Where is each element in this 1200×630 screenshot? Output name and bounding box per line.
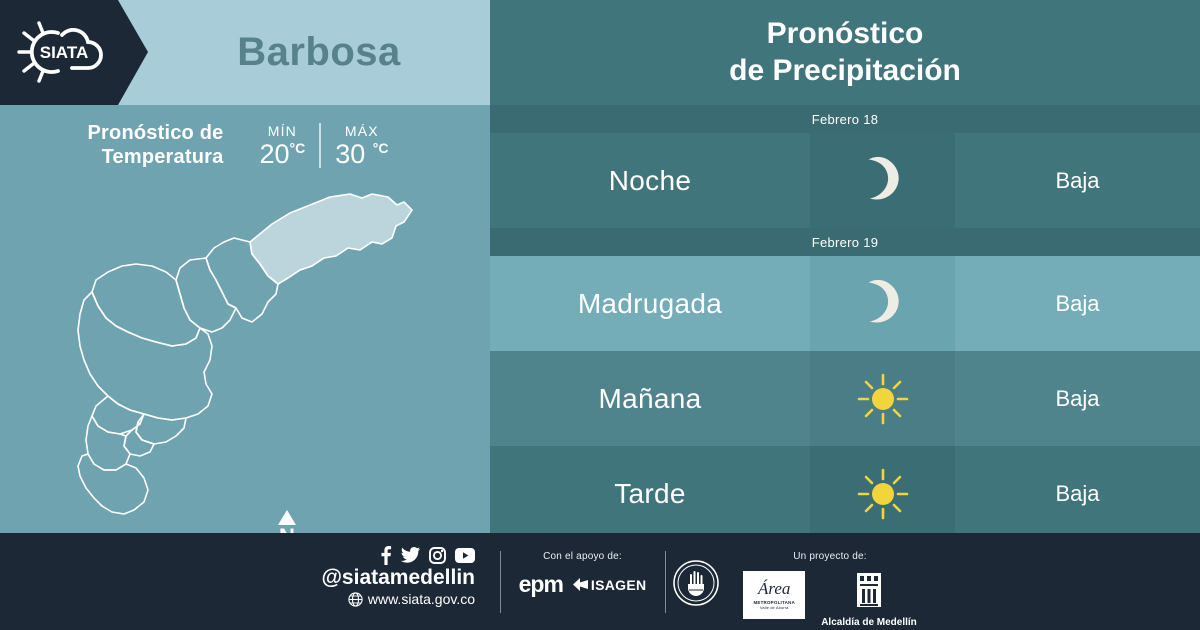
sun-icon <box>810 446 955 541</box>
support-caption: Con el apoyo de: <box>505 551 660 562</box>
compass-arrow-icon <box>278 510 296 525</box>
temperature-max-unit: °C <box>373 140 389 156</box>
temperature-max-value: 30 °C <box>335 141 388 168</box>
temperature-max-label: MÁX <box>345 123 379 139</box>
siata-logo-badge: SIATA <box>0 0 148 105</box>
left-panel: SIATA Barbosa Pronóstico de Temperatura … <box>0 0 490 533</box>
forecast-row-manana[interactable]: Mañana <box>490 351 1200 446</box>
temperature-min: MÍN 20°C <box>245 123 321 168</box>
infographic-root: SIATA Barbosa Pronóstico de Temperatura … <box>0 0 1200 630</box>
project-block: Un proyecto de: Área METROPOLITANA Valle… <box>725 551 935 628</box>
map-region-barbosa <box>250 194 412 284</box>
map-region-copacabana <box>176 258 236 332</box>
forecast-date-header: Febrero 18 <box>490 105 1200 133</box>
temperature-values: MÍN 20°C MÁX 30 °C <box>245 123 402 168</box>
social-handle[interactable]: @siatamedellin <box>260 566 475 590</box>
alcaldia-mark-icon <box>854 571 884 613</box>
forecast-period-label: Mañana <box>490 351 810 446</box>
temperature-min-value: 20°C <box>259 141 305 168</box>
precipitation-title-line1: Pronóstico <box>767 16 924 53</box>
map-region-medellin <box>78 292 212 420</box>
area-metropolitana-logo: Área METROPOLITANA Valle de Aburrá <box>743 571 805 619</box>
social-block: @siatamedellin www.siata.gov.co <box>260 545 475 607</box>
isagen-logo: ISAGEN <box>573 577 646 593</box>
support-logos: epm ISAGEN <box>505 571 660 598</box>
forecast-period-label: Tarde <box>490 446 810 541</box>
instagram-icon[interactable] <box>429 547 446 564</box>
website-line[interactable]: www.siata.gov.co <box>260 591 475 607</box>
alcaldia-label: Alcaldía de Medellín <box>821 617 917 628</box>
map-svg <box>0 180 490 533</box>
forecast-level-label: Baja <box>955 446 1200 541</box>
footer-divider-1 <box>500 551 501 613</box>
temperature-title-line2: Temperatura <box>88 145 224 169</box>
epm-logo: epm <box>519 571 563 598</box>
unal-seal-icon <box>673 560 719 606</box>
forecast-period-label: Madrugada <box>490 256 810 351</box>
moon-icon <box>810 256 955 351</box>
moon-icon <box>810 133 955 228</box>
temperature-title-line1: Pronóstico de <box>88 121 224 145</box>
temperature-max: MÁX 30 °C <box>321 123 402 168</box>
alcaldia-logo: Alcaldía de Medellín <box>821 571 917 628</box>
sun-icon <box>810 351 955 446</box>
twitter-icon[interactable] <box>401 547 420 563</box>
precipitation-panel: Pronóstico de Precipitación Febrero 18 N… <box>490 0 1200 533</box>
isagen-mark-icon <box>573 578 588 591</box>
footer-divider-2 <box>665 551 666 613</box>
temperature-min-label: MÍN <box>268 123 297 139</box>
project-logos: Área METROPOLITANA Valle de Aburrá <box>725 571 935 628</box>
forecast-row-madrugada[interactable]: Madrugada Baja <box>490 256 1200 351</box>
forecast-table: Febrero 18 Noche Baja Febrero 19 Madruga… <box>490 105 1200 541</box>
precipitation-title-line2: de Precipitación <box>729 53 961 90</box>
forecast-row-noche[interactable]: Noche Baja <box>490 133 1200 228</box>
map-region-bello <box>92 264 200 346</box>
social-icons <box>260 545 475 565</box>
youtube-icon[interactable] <box>455 548 475 563</box>
forecast-level-label: Baja <box>955 256 1200 351</box>
siata-logo-text: SIATA <box>40 43 88 62</box>
forecast-row-tarde[interactable]: Tarde <box>490 446 1200 541</box>
map-region-envigado <box>136 414 186 444</box>
left-header: SIATA Barbosa <box>0 0 490 105</box>
city-title: Barbosa <box>148 0 490 105</box>
project-caption: Un proyecto de: <box>725 551 935 562</box>
forecast-date-header: Febrero 19 <box>490 228 1200 256</box>
temperature-title: Pronóstico de Temperatura <box>88 121 224 169</box>
globe-icon <box>348 592 363 607</box>
temperature-summary: Pronóstico de Temperatura MÍN 20°C MÁX 3… <box>0 105 490 185</box>
website-text: www.siata.gov.co <box>368 591 475 607</box>
facebook-icon[interactable] <box>380 546 392 565</box>
forecast-level-label: Baja <box>955 351 1200 446</box>
forecast-level-label: Baja <box>955 133 1200 228</box>
support-block: Con el apoyo de: epm ISAGEN <box>505 551 660 598</box>
map-region-caldas <box>78 454 148 514</box>
sun-cloud-icon: SIATA <box>14 16 114 88</box>
temperature-min-unit: °C <box>290 140 306 156</box>
aburra-valley-map: N <box>0 180 490 533</box>
forecast-period-label: Noche <box>490 133 810 228</box>
footer: @siatamedellin www.siata.gov.co Con el a… <box>0 533 1200 630</box>
precipitation-title: Pronóstico de Precipitación <box>490 0 1200 105</box>
